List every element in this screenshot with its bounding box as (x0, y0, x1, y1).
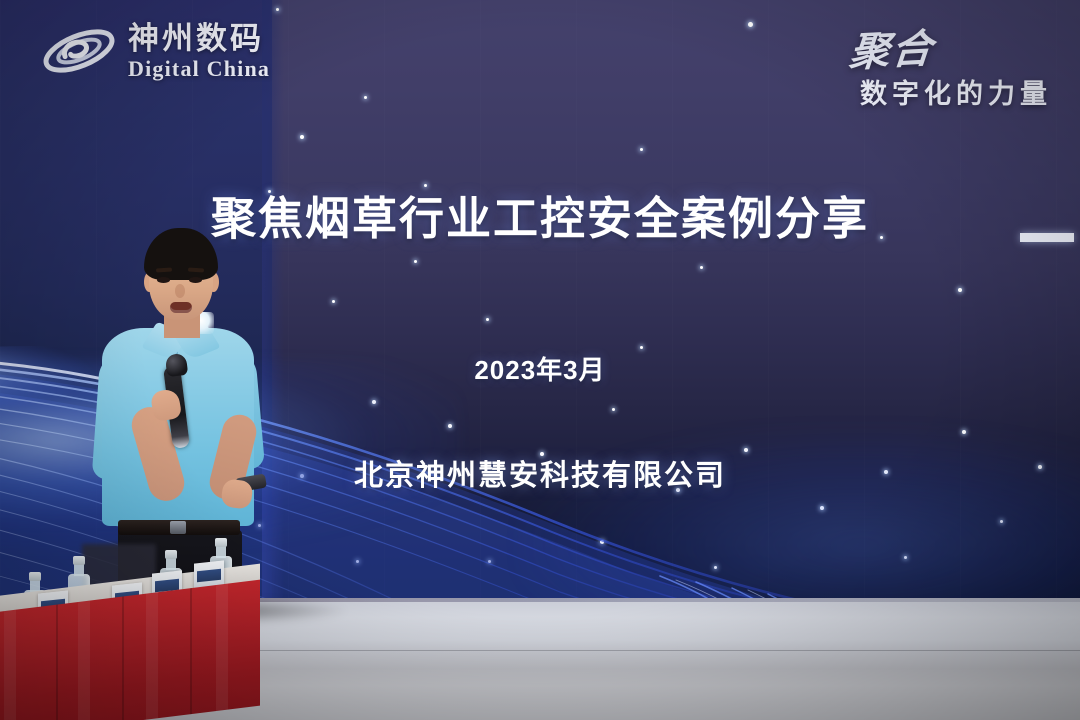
speaker-hair (144, 228, 218, 280)
digital-china-brand-lockup: 神州数码 Digital China (40, 20, 270, 82)
skirt-highlight (146, 592, 158, 719)
bottle-cap (215, 538, 227, 547)
digital-china-swirl-logo-icon (40, 20, 118, 82)
skirt-fold (122, 596, 124, 720)
speaker-mouth (170, 302, 192, 313)
brand-name-cn: 神州数码 (128, 23, 270, 54)
screenshot-root: 神州数码 Digital China 聚合 数字化的力量 聚焦烟草行业工控安全案… (0, 0, 1080, 720)
event-calligraphy-title: 聚合 (847, 16, 937, 78)
brand-name-en: Digital China (128, 58, 270, 80)
brand-name-block: 神州数码 Digital China (128, 23, 270, 80)
skirt-fold (190, 588, 192, 714)
event-brand-lockup: 聚合 数字化的力量 (850, 18, 1052, 111)
bottle-cap (29, 572, 41, 581)
bottle-cap (73, 556, 85, 565)
audience-table (0, 544, 260, 720)
skirt-fold (56, 604, 58, 720)
speaker-left-eye (157, 277, 170, 283)
skirt-highlight (216, 584, 228, 711)
bottle-cap (165, 550, 177, 559)
speaker-belt-buckle (170, 521, 186, 534)
speaker-nose (175, 284, 185, 298)
name-card-strip (197, 569, 221, 583)
speaker-right-eye (189, 277, 202, 283)
event-slogan: 数字化的力量 (850, 72, 1052, 111)
skirt-highlight (78, 601, 90, 720)
skirt-highlight (4, 610, 16, 720)
